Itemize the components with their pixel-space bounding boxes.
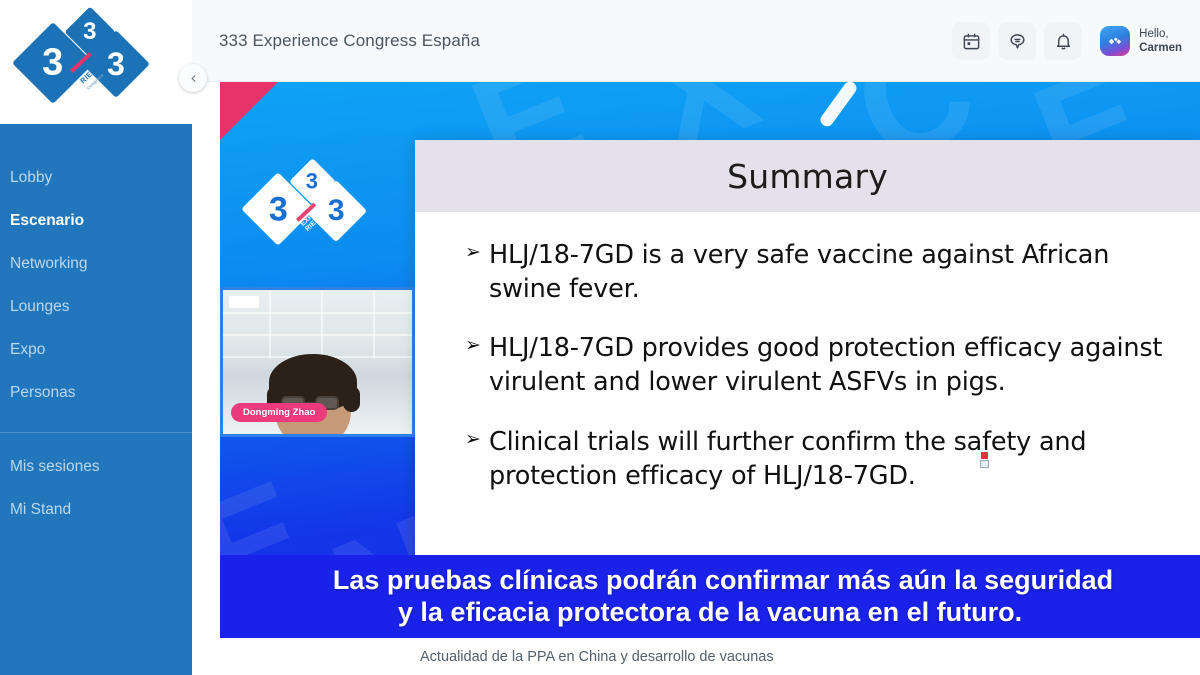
subtitle-line-2: y la eficacia protectora de la vacuna en… — [398, 597, 1022, 628]
bullet-text: Clinical trials will further confirm the… — [489, 425, 1172, 493]
session-title: Actualidad de la PPA en China y desarrol… — [420, 649, 774, 665]
sidebar-item-lounges[interactable]: Lounges — [0, 285, 192, 328]
calendar-icon — [962, 32, 981, 51]
greeting-text: Hello, — [1139, 27, 1182, 41]
bullet-arrow-icon: ➢ — [465, 336, 489, 355]
sidebar-item-networking[interactable]: Networking — [0, 242, 192, 285]
subtitle-overlay: Las pruebas clínicas podrán confirmar má… — [220, 555, 1200, 638]
bullet-arrow-icon: ➢ — [465, 243, 489, 262]
sidebar-logo[interactable]: 3 3 3 EXPE RIENCE congress — [0, 0, 192, 126]
session-caption-bar: Actualidad de la PPA en China y desarrol… — [192, 638, 1200, 675]
sidebar-item-expo[interactable]: Expo — [0, 328, 192, 371]
logo-digit-2: 3 — [83, 20, 96, 44]
slide-bullet: ➢ Clinical trials will further confirm t… — [465, 425, 1172, 493]
user-menu[interactable]: Hello, Carmen — [1100, 26, 1182, 56]
app-root: 3 3 3 EXPE RIENCE congress Lobby Escenar… — [0, 0, 1200, 675]
bullet-arrow-icon: ➢ — [465, 430, 489, 449]
slide-bullet: ➢ HLJ/18-7GD provides good protection ef… — [465, 331, 1172, 399]
page-title: 333 Experience Congress España — [219, 31, 480, 51]
video-canvas[interactable]: E X C E E N 3 3 3 — [220, 82, 1200, 638]
corner-accent-triangle — [220, 82, 278, 140]
slide-title-band: Summary — [415, 140, 1200, 212]
bullet-text: HLJ/18-7GD provides good protection effi… — [489, 331, 1172, 399]
slide-333-logo: 3 3 3 EXPE RIENCE — [248, 157, 398, 265]
slide-title: Summary — [727, 157, 888, 196]
notifications-button[interactable] — [1044, 22, 1082, 60]
sidebar-item-escenario[interactable]: Escenario — [0, 199, 192, 242]
avatar-logo-icon — [1109, 37, 1122, 46]
sidebar-item-mi-stand[interactable]: Mi Stand — [0, 488, 192, 531]
mouse-cursor-icon — [980, 452, 990, 468]
calendar-button[interactable] — [952, 22, 990, 60]
sidebar-item-mis-sesiones[interactable]: Mis sesiones — [0, 445, 192, 488]
subtitle-line-1: Las pruebas clínicas podrán confirmar má… — [333, 565, 1113, 596]
avatar — [1100, 26, 1130, 56]
slide-bullet: ➢ HLJ/18-7GD is a very safe vaccine agai… — [465, 238, 1172, 306]
user-name: Carmen — [1139, 41, 1182, 55]
sidebar-item-personas[interactable]: Personas — [0, 371, 192, 414]
slide-logo-digit-1: 3 — [269, 192, 288, 226]
header-actions: Hello, Carmen — [952, 22, 1182, 60]
ceiling-lamp — [229, 296, 259, 308]
headphone-right-icon — [343, 386, 360, 412]
speaker-video-thumbnail[interactable]: Dongming Zhao — [220, 287, 415, 437]
top-header: 333 Experience Congress España — [192, 0, 1200, 82]
chevron-left-icon — [188, 73, 199, 84]
sidebar: 3 3 3 EXPE RIENCE congress Lobby Escenar… — [0, 0, 192, 675]
bullet-text: HLJ/18-7GD is a very safe vaccine agains… — [489, 238, 1172, 306]
bell-icon — [1054, 32, 1073, 51]
sidebar-divider — [0, 432, 192, 433]
slide-logo-digit-3: 3 — [328, 196, 345, 226]
sidebar-item-lobby[interactable]: Lobby — [0, 156, 192, 199]
sidebar-collapse-button[interactable] — [179, 64, 207, 92]
slide-logo-digit-2: 3 — [306, 171, 318, 193]
stage-player[interactable]: E X C E E N 3 3 3 — [192, 82, 1200, 638]
logo-digit-3: 3 — [107, 48, 125, 80]
main-area: 333 Experience Congress España — [192, 0, 1200, 675]
slide-body: ➢ HLJ/18-7GD is a very safe vaccine agai… — [415, 212, 1200, 493]
slash-accent — [818, 82, 859, 129]
chat-bubble-icon — [1008, 32, 1027, 51]
sidebar-nav: Lobby Escenario Networking Lounges Expo … — [0, 126, 192, 531]
user-greeting: Hello, Carmen — [1139, 27, 1182, 56]
chat-button[interactable] — [998, 22, 1036, 60]
speaker-name-badge: Dongming Zhao — [231, 403, 327, 422]
presentation-slide: Summary ➢ HLJ/18-7GD is a very safe vacc… — [415, 140, 1200, 595]
logo-digit-1: 3 — [42, 44, 63, 82]
333-logo: 3 3 3 EXPE RIENCE congress — [16, 8, 176, 116]
